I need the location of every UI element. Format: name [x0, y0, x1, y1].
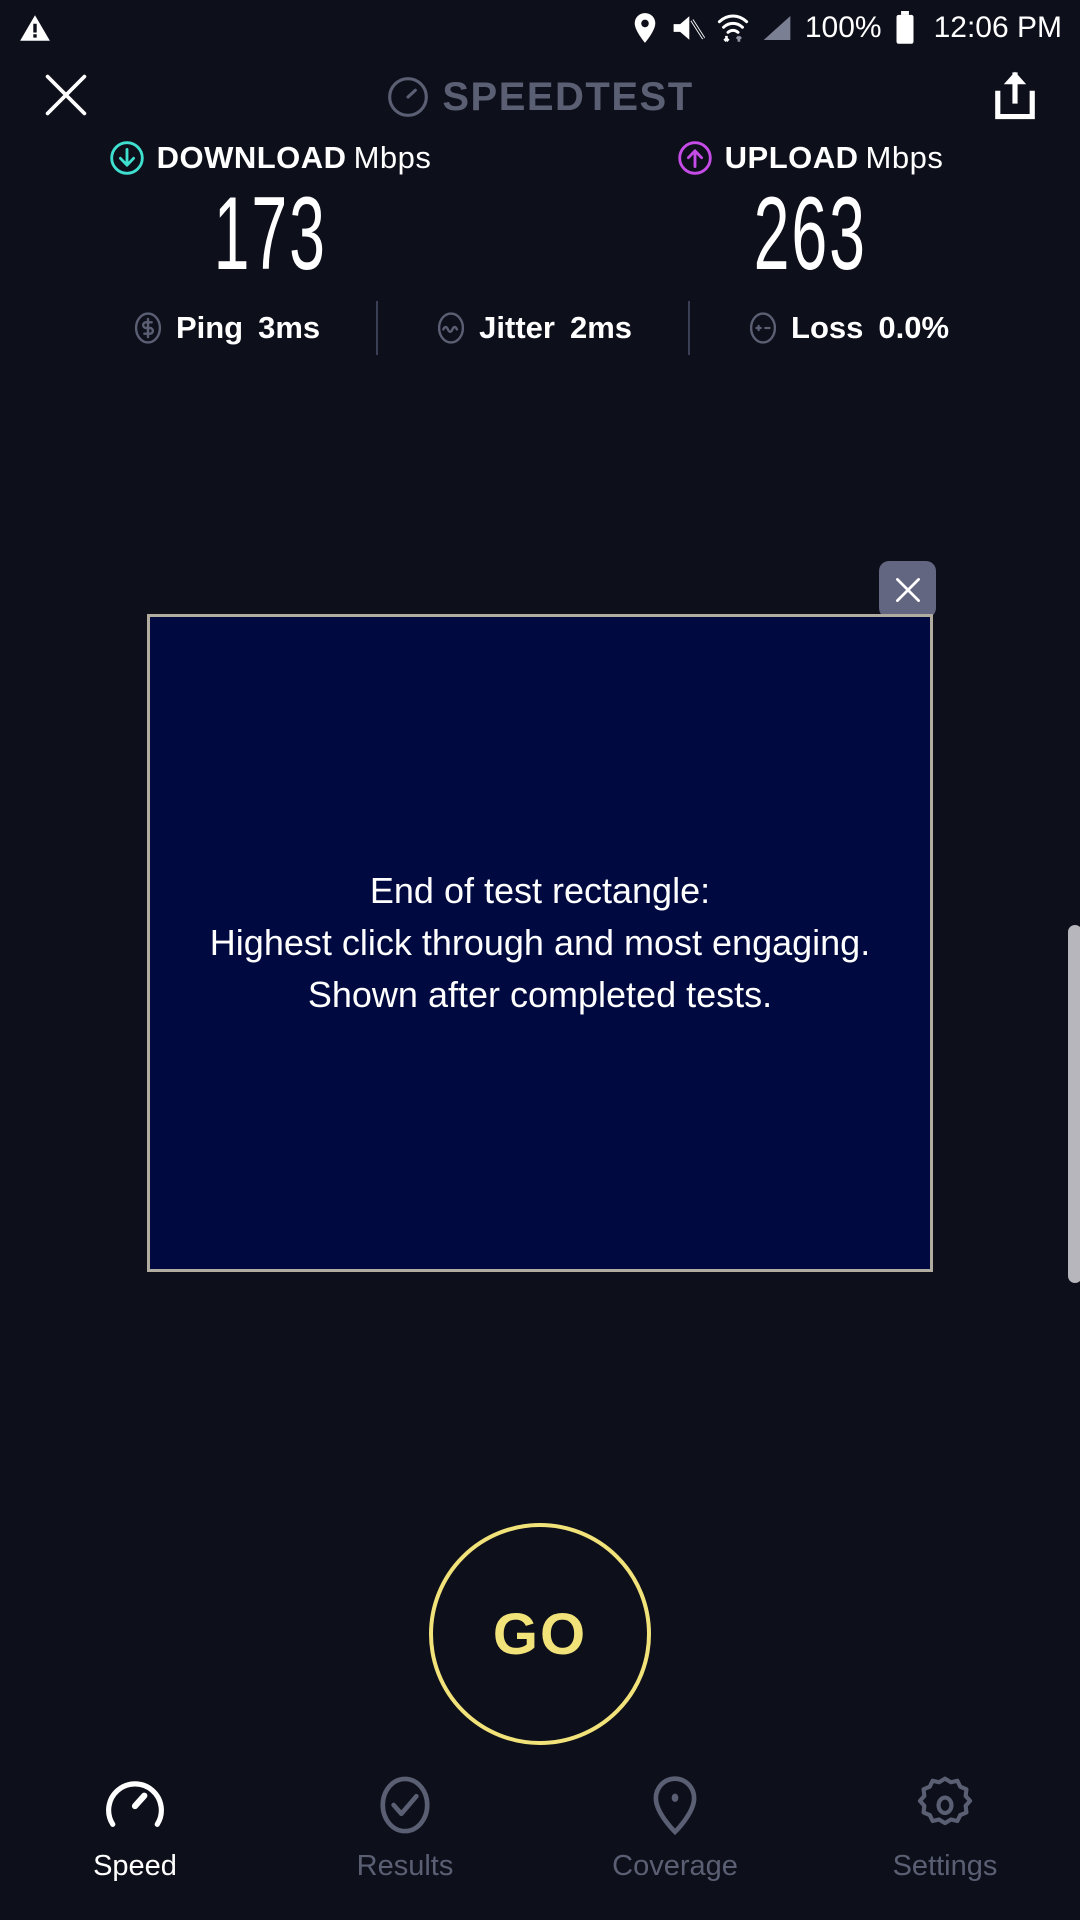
cellular-signal-icon [761, 13, 793, 43]
download-metric: DOWNLOADMbps 173 [0, 140, 540, 289]
app-header [0, 58, 1080, 136]
status-bar-left [18, 11, 52, 45]
arrow-down-circle-icon [109, 140, 145, 176]
loss-stat: Loss 0.0% [746, 310, 949, 346]
nav-label-coverage: Coverage [612, 1850, 738, 1883]
upload-value: 263 [753, 180, 866, 289]
stat-divider-1 [376, 301, 378, 355]
test-results-panel: DOWNLOADMbps 173 UPLOADMbps 263 [0, 140, 1080, 355]
battery-full-icon [894, 11, 916, 45]
arrow-up-circle-icon [677, 140, 713, 176]
go-button[interactable]: GO [429, 1523, 651, 1745]
nav-item-speed[interactable]: Speed [0, 1774, 270, 1883]
loss-label: Loss [791, 310, 863, 346]
nav-item-coverage[interactable]: Coverage [540, 1774, 810, 1883]
ad-text: End of test rectangle: Highest click thr… [210, 865, 870, 1022]
jitter-label: Jitter [479, 310, 555, 346]
loss-icon [746, 311, 780, 345]
loss-value: 0.0% [878, 310, 949, 346]
download-label-row: DOWNLOADMbps [109, 140, 432, 176]
upload-unit: Mbps [866, 140, 944, 175]
nav-item-results[interactable]: Results [270, 1774, 540, 1883]
download-label: DOWNLOADMbps [157, 140, 432, 176]
ad-close-button[interactable] [879, 561, 936, 618]
location-pin-icon [644, 1774, 706, 1836]
share-button[interactable] [990, 67, 1040, 128]
speedtest-app-screen: 100% 12:06 PM [0, 0, 1080, 1920]
stat-divider-2 [688, 301, 690, 355]
nav-label-speed: Speed [93, 1850, 177, 1883]
status-bar-right: 100% 12:06 PM [631, 11, 1062, 45]
download-unit: Mbps [354, 140, 432, 175]
nav-item-settings[interactable]: Settings [810, 1774, 1080, 1883]
download-label-text: DOWNLOAD [157, 140, 347, 175]
ad-close-icon [891, 573, 925, 607]
battery-percent-label: 100% [805, 11, 882, 45]
download-value: 173 [213, 180, 326, 289]
mute-icon [671, 12, 705, 44]
upload-label: UPLOADMbps [725, 140, 944, 176]
jitter-icon [434, 311, 468, 345]
wifi-data-icon [717, 11, 749, 45]
go-button-label: GO [493, 1601, 587, 1668]
clock-label: 12:06 PM [934, 11, 1062, 45]
check-circle-icon [374, 1774, 436, 1836]
page-scrollbar[interactable] [1068, 925, 1080, 1283]
advertisement-banner[interactable]: End of test rectangle: Highest click thr… [147, 614, 933, 1272]
ping-label: Ping [176, 310, 243, 346]
location-pin-icon [631, 12, 659, 44]
network-stats-row: Ping 3ms Jitter 2ms [0, 301, 1080, 355]
bottom-navigation-bar: Speed Results Coverage [0, 1760, 1080, 1920]
ping-icon [131, 311, 165, 345]
system-status-bar: 100% 12:06 PM [0, 0, 1080, 56]
warning-triangle-icon [18, 11, 52, 45]
gear-icon [914, 1774, 976, 1836]
upload-label-text: UPLOAD [725, 140, 859, 175]
nav-label-settings: Settings [893, 1850, 998, 1883]
speed-metrics-row: DOWNLOADMbps 173 UPLOADMbps 263 [0, 140, 1080, 289]
upload-label-row: UPLOADMbps [677, 140, 944, 176]
speedometer-icon [104, 1774, 166, 1836]
ping-value: 3ms [258, 310, 320, 346]
close-button[interactable] [40, 69, 92, 126]
nav-label-results: Results [357, 1850, 454, 1883]
jitter-value: 2ms [570, 310, 632, 346]
ping-stat: Ping 3ms [131, 310, 320, 346]
upload-metric: UPLOADMbps 263 [540, 140, 1080, 289]
jitter-stat: Jitter 2ms [434, 310, 632, 346]
